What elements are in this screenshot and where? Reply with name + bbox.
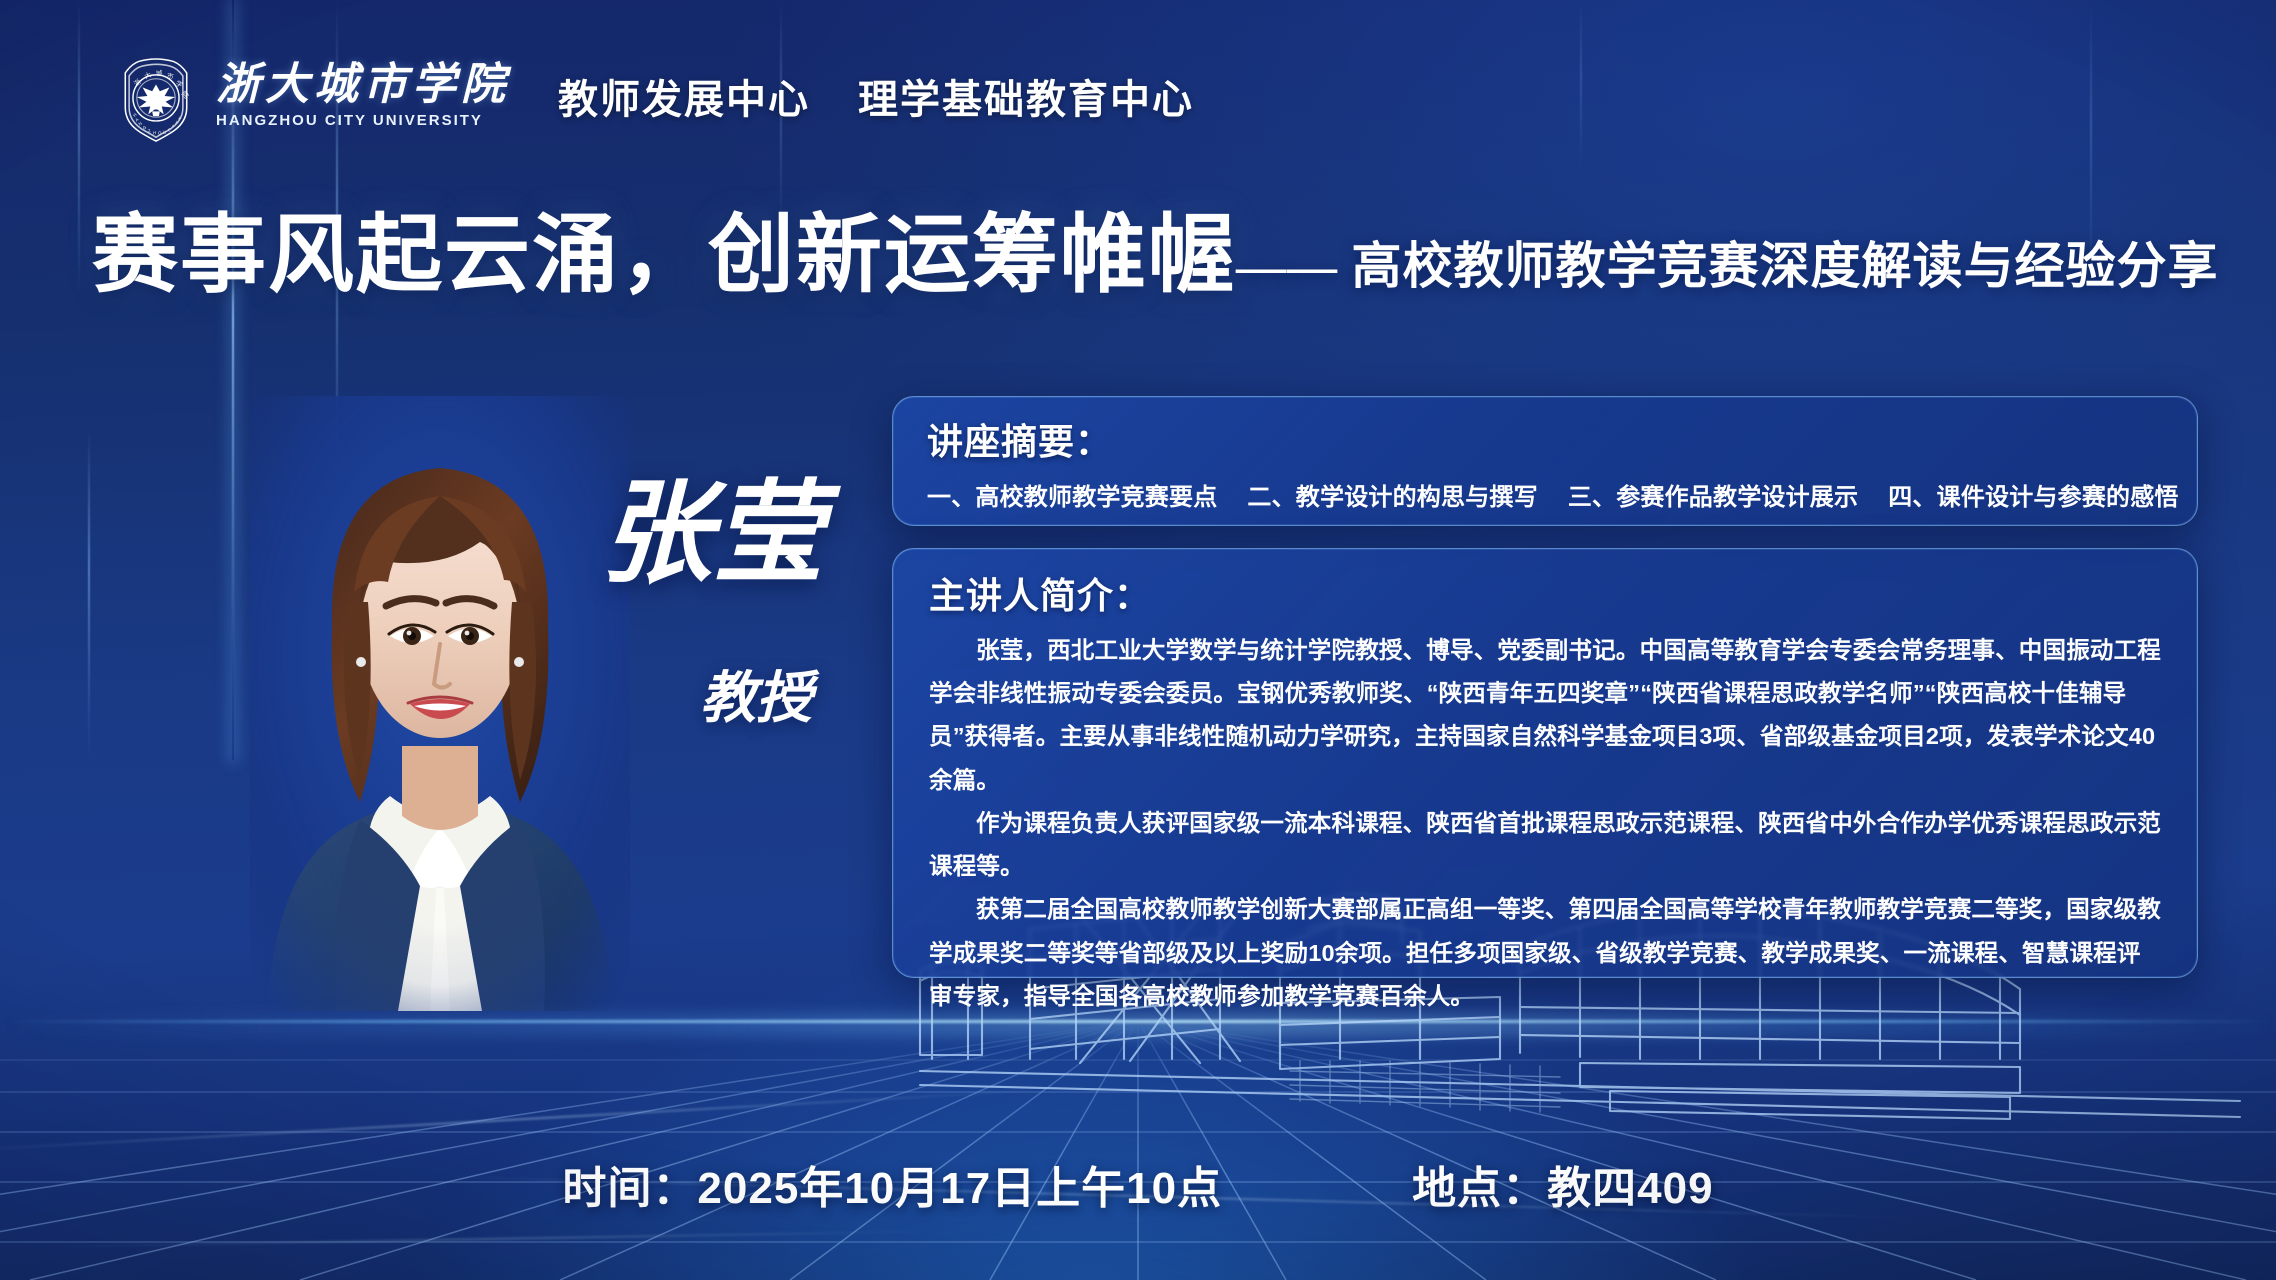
department-item: 理学基础教育中心 — [858, 67, 1194, 125]
svg-text:U: U — [162, 130, 166, 136]
bio-heading: 主讲人简介： — [929, 567, 2161, 619]
logo-wordmark: 浙大城市学院 HANGZHOU CITY UNIVERSITY — [216, 63, 510, 130]
abstract-item-list: 一、高校教师教学竞赛要点 二、教学设计的构思与撰写 三、参赛作品教学设计展示 四… — [927, 477, 2163, 512]
speaker-portrait — [250, 396, 630, 1011]
abstract-item: 四、课件设计与参赛的感悟 — [1888, 477, 2178, 512]
bio-paragraph: 张莹，西北工业大学数学与统计学院教授、博导、党委副书记。中国高等教育学会专委会常… — [929, 629, 2161, 802]
svg-text:H: H — [132, 112, 138, 118]
light-streak-decoration — [0, 1089, 1039, 1152]
horizon-line-decoration — [0, 1020, 2276, 1023]
bio-paragraph: 作为课程负责人获评国家级一流本科课程、陕西省首批课程思政示范课程、陕西省中外合作… — [929, 802, 2161, 888]
page-title: 赛事风起云涌，创新运筹帷幄 — [92, 212, 1236, 298]
light-ray-decoration — [88, 430, 90, 760]
logo-name-en: HANGZHOU CITY UNIVERSITY — [216, 112, 510, 129]
page-subtitle: —— 高校教师教学竞赛深度解读与经验分享 — [1236, 241, 2219, 298]
svg-text:院: 院 — [180, 89, 191, 100]
university-crest-icon: 浙 大 城 市 学 院 H A N G Z H O U C I — [108, 48, 204, 144]
bio-paragraph: 获第二届全国高校教师教学创新大赛部属正高组一等奖、第四届全国高等学校青年教师教学… — [929, 888, 2161, 1018]
poster-header: 浙 大 城 市 学 院 H A N G Z H O U C I — [108, 48, 1194, 144]
logo-name-cn: 浙大城市学院 — [216, 63, 510, 108]
abstract-item: 一、高校教师教学竞赛要点 — [927, 477, 1217, 512]
speaker-name: 张莹 — [600, 468, 824, 602]
light-ray-decoration — [78, 0, 80, 300]
abstract-heading: 讲座摘要： — [927, 413, 2163, 465]
lecture-poster: 浙 大 城 市 学 院 H A N G Z H O U C I — [0, 0, 2276, 1280]
department-item: 教师发展中心 — [558, 67, 810, 125]
event-location: 地点：教四409 — [1412, 1152, 1713, 1216]
svg-text:Z: Z — [147, 128, 151, 134]
bio-body: 张莹，西北工业大学数学与统计学院教授、博导、党委副书记。中国高等教育学会专委会常… — [929, 629, 2161, 1018]
abstract-card: 讲座摘要： 一、高校教师教学竞赛要点 二、教学设计的构思与撰写 三、参赛作品教学… — [892, 396, 2198, 526]
abstract-item: 三、参赛作品教学设计展示 — [1568, 477, 1858, 512]
speaker-title: 教授 — [700, 665, 812, 733]
department-list: 教师发展中心 理学基础教育中心 — [558, 67, 1194, 125]
speaker-bio-card: 主讲人简介： 张莹，西北工业大学数学与统计学院教授、博导、党委副书记。中国高等教… — [892, 548, 2198, 978]
svg-text:H: H — [153, 130, 157, 135]
abstract-item: 二、教学设计的构思与撰写 — [1247, 477, 1537, 512]
svg-text:市: 市 — [166, 71, 175, 81]
poster-footer: 时间：2025年10月17日上午10点 地点：教四409 — [0, 1152, 2276, 1216]
perspective-grid-decoration — [0, 1020, 2276, 1280]
svg-text:城: 城 — [156, 69, 164, 77]
event-time: 时间：2025年10月17日上午10点 — [562, 1152, 1222, 1216]
poster-title-block: 赛事风起云涌，创新运筹帷幄 —— 高校教师教学竞赛深度解读与经验分享 — [92, 212, 2219, 298]
light-streak-decoration — [40, 1230, 940, 1248]
light-ray-decoration — [1580, 0, 1582, 180]
